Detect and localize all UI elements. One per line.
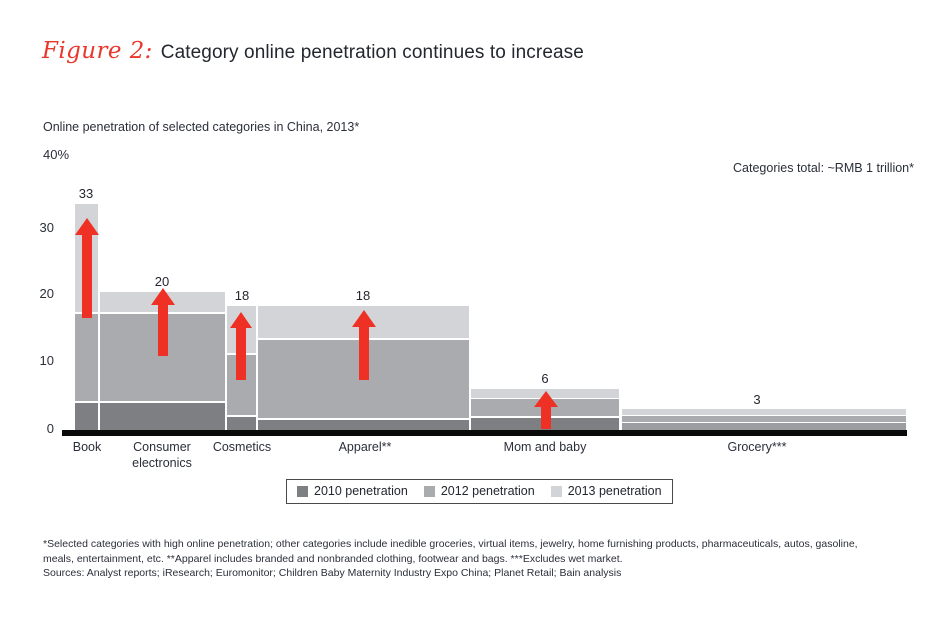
legend-label-2010: 2010 penetration xyxy=(314,484,408,498)
legend-label-2013: 2013 penetration xyxy=(568,484,662,498)
legend-label-2012: 2012 penetration xyxy=(441,484,535,498)
growth-arrow-apparel xyxy=(351,310,377,380)
chart-plot-area: 30 20 10 0 33 20 18 18 6 3 xyxy=(0,0,950,628)
bar-book-2012 xyxy=(75,314,98,401)
footnotes: *Selected categories with high online pe… xyxy=(43,537,918,581)
x-label-mom-and-baby: Mom and baby xyxy=(490,440,600,455)
y-tick-0: 0 xyxy=(20,421,54,436)
footnote-line-1: *Selected categories with high online pe… xyxy=(43,537,918,552)
bar-label-apparel: 18 xyxy=(333,288,393,303)
x-label-book: Book xyxy=(46,440,128,455)
figure-page: Figure 2: Category online penetration co… xyxy=(0,0,950,628)
footnote-sources: Sources: Analyst reports; iResearch; Eur… xyxy=(43,566,918,581)
y-tick-10: 10 xyxy=(20,353,54,368)
bar-label-cosmetics: 18 xyxy=(212,288,272,303)
x-label-grocery: Grocery*** xyxy=(707,440,807,455)
y-tick-20: 20 xyxy=(20,286,54,301)
growth-arrow-cosmetics xyxy=(229,312,253,380)
x-label-consumer-electronics-line2: electronics xyxy=(122,456,202,471)
legend-swatch-2013-icon xyxy=(551,486,562,497)
growth-arrow-consumer-electronics xyxy=(150,288,176,356)
bar-consumer-electronics-2010 xyxy=(100,403,225,430)
x-label-consumer-electronics-line1: Consumer xyxy=(122,440,202,455)
growth-arrow-book xyxy=(74,218,100,318)
bar-grocery-2012 xyxy=(622,416,906,422)
bar-cosmetics-2010 xyxy=(227,417,256,430)
bar-grocery-2010 xyxy=(622,423,906,430)
bar-apparel-2010 xyxy=(258,420,469,430)
legend-item-2012[interactable]: 2012 penetration xyxy=(424,484,535,498)
legend-item-2010[interactable]: 2010 penetration xyxy=(297,484,408,498)
bar-label-mom-and-baby: 6 xyxy=(515,371,575,386)
legend-swatch-2012-icon xyxy=(424,486,435,497)
bar-grocery-2013 xyxy=(622,409,906,415)
legend-swatch-2010-icon xyxy=(297,486,308,497)
footnote-line-2: meals, entertainment, etc. **Apparel inc… xyxy=(43,552,918,567)
chart-legend: 2010 penetration 2012 penetration 2013 p… xyxy=(286,479,673,504)
bar-label-consumer-electronics: 20 xyxy=(132,274,192,289)
bar-label-book: 33 xyxy=(56,186,116,201)
growth-arrow-mom-and-baby xyxy=(533,391,559,429)
bar-label-grocery: 3 xyxy=(727,392,787,407)
x-axis-rule xyxy=(62,430,907,436)
x-label-apparel: Apparel** xyxy=(320,440,410,455)
x-label-cosmetics: Cosmetics xyxy=(202,440,282,455)
legend-item-2013[interactable]: 2013 penetration xyxy=(551,484,662,498)
bar-book-2010 xyxy=(75,403,98,430)
y-tick-30: 30 xyxy=(20,220,54,235)
